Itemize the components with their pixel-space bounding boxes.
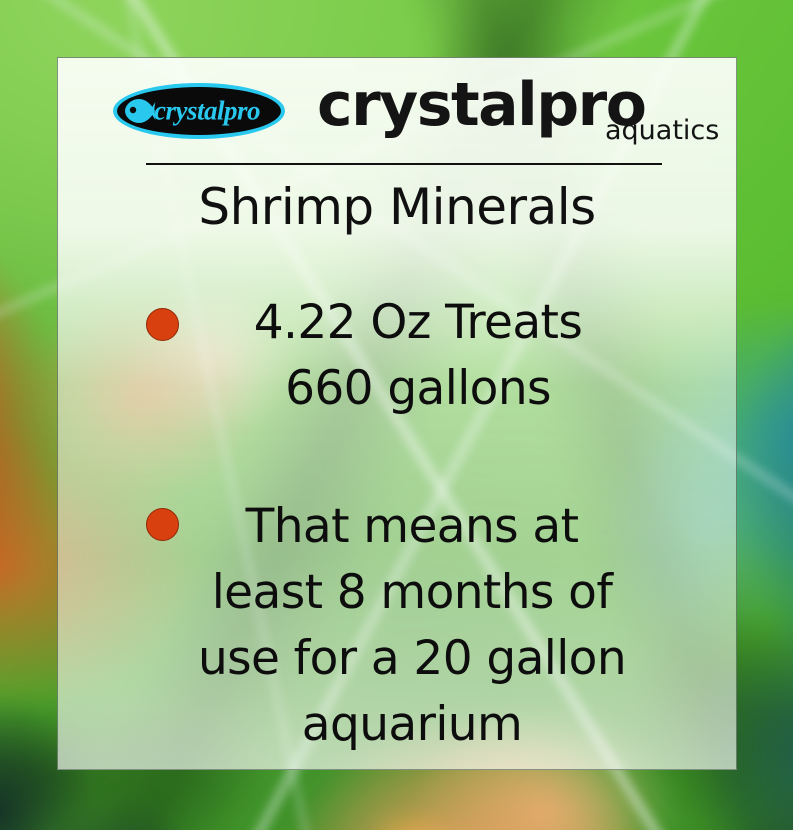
- bullet-dot-icon: [146, 508, 179, 541]
- logo-badge-text: crystalpro: [154, 95, 260, 126]
- list-item: That means at least 8 months of use for …: [58, 494, 736, 758]
- header-divider: [146, 163, 662, 165]
- wordmark-secondary: aquatics: [605, 117, 719, 145]
- brand-logo-badge: crystalpro: [113, 83, 285, 139]
- feature-list: 4.22 Oz Treats 660 gallons That means at…: [58, 290, 736, 758]
- list-item-label: That means at least 8 months of use for …: [110, 494, 684, 758]
- list-item-label: 4.22 Oz Treats 660 gallons: [110, 290, 684, 422]
- list-item: 4.22 Oz Treats 660 gallons: [58, 290, 736, 422]
- content-panel: crystalpro crystalpro aquatics Shrimp Mi…: [57, 57, 737, 770]
- bullet-dot-icon: [146, 308, 179, 341]
- wordmark-primary: crystalpro: [317, 73, 645, 137]
- brand-header: crystalpro crystalpro aquatics: [58, 58, 736, 163]
- brand-wordmark: crystalpro aquatics: [317, 75, 714, 147]
- fish-icon: [122, 96, 156, 126]
- page-title: Shrimp Minerals: [58, 175, 736, 239]
- product-infographic: crystalpro crystalpro aquatics Shrimp Mi…: [0, 0, 793, 830]
